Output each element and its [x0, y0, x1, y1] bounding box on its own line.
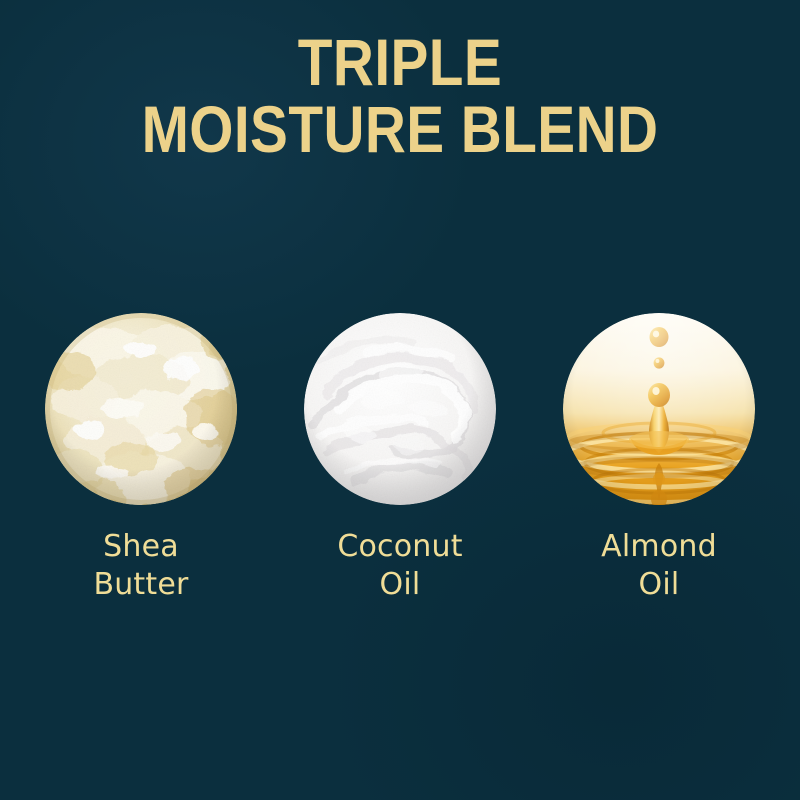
title-line-2: MOISTURE BLEND	[56, 97, 744, 162]
ingredient-coconut-oil: Coconut Oil	[304, 313, 496, 605]
almond-oil-swatch-image	[563, 313, 755, 505]
coconut-oil-swatch-image	[304, 313, 496, 505]
shea-butter-swatch-image	[45, 313, 237, 505]
ingredient-shea-butter: Shea Butter	[45, 313, 237, 605]
promo-poster: TRIPLE MOISTURE BLEND	[0, 0, 800, 800]
title-line-1: TRIPLE	[56, 30, 744, 95]
ingredient-almond-oil: Almond Oil	[563, 313, 755, 605]
ingredient-list: Shea Butter	[0, 313, 800, 605]
page-title: TRIPLE MOISTURE BLEND	[0, 30, 800, 161]
ingredient-label-shea-butter: Shea Butter	[93, 528, 188, 605]
ingredient-label-almond-oil: Almond Oil	[601, 528, 717, 605]
ingredient-label-coconut-oil: Coconut Oil	[337, 528, 462, 605]
